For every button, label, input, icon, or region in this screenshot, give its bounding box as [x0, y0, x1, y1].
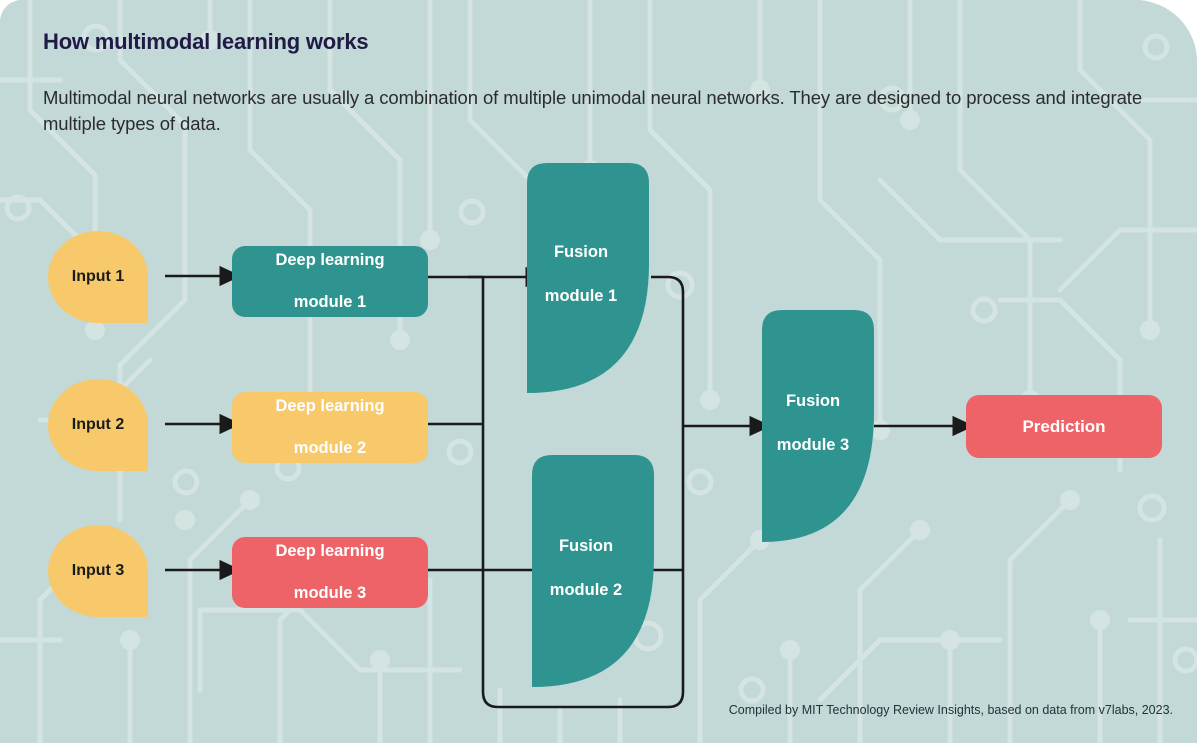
fusion2-line1: Fusion — [532, 535, 640, 557]
fusion-module-2-label: Fusion module 2 — [532, 535, 640, 601]
dl3-line2: module 3 — [275, 583, 384, 604]
prediction-label: Prediction — [1022, 417, 1105, 437]
prediction-node[interactable]: Prediction — [966, 395, 1162, 458]
dl3-line1: Deep learning — [275, 541, 384, 562]
fusion1-line2: module 1 — [527, 285, 635, 307]
page-subtitle: Multimodal neural networks are usually a… — [43, 85, 1178, 137]
input-node-1[interactable]: Input 1 — [48, 231, 148, 323]
input-node-3[interactable]: Input 3 — [48, 525, 148, 617]
input-node-1-label: Input 1 — [72, 268, 124, 286]
fusion-module-2[interactable]: Fusion module 2 — [532, 455, 654, 687]
fusion3-line2: module 3 — [762, 434, 864, 456]
input-node-2[interactable]: Input 2 — [48, 379, 148, 471]
input-node-2-label: Input 2 — [72, 416, 124, 434]
fusion-module-3[interactable]: Fusion module 3 — [762, 310, 874, 542]
deep-learning-module-3-label: Deep learning module 3 — [275, 541, 384, 604]
fusion3-line1: Fusion — [762, 390, 864, 412]
page-title: How multimodal learning works — [43, 29, 368, 55]
input-node-3-label: Input 3 — [72, 562, 124, 580]
dl1-line2: module 1 — [275, 292, 384, 313]
fusion-module-3-label: Fusion module 3 — [762, 390, 864, 456]
fusion1-line1: Fusion — [527, 241, 635, 263]
fusion2-line2: module 2 — [532, 579, 640, 601]
deep-learning-module-2[interactable]: Deep learning module 2 — [232, 392, 428, 463]
source-attribution: Compiled by MIT Technology Review Insigh… — [729, 703, 1173, 717]
fusion-module-1-label: Fusion module 1 — [527, 241, 635, 307]
deep-learning-module-2-label: Deep learning module 2 — [275, 396, 384, 459]
dl2-line2: module 2 — [275, 438, 384, 459]
dl1-line1: Deep learning — [275, 250, 384, 271]
deep-learning-module-1-label: Deep learning module 1 — [275, 250, 384, 313]
deep-learning-module-3[interactable]: Deep learning module 3 — [232, 537, 428, 608]
wire-fusion1-to-right-bus — [651, 277, 683, 692]
bottom-loop — [483, 692, 683, 707]
fusion-module-1[interactable]: Fusion module 1 — [527, 163, 649, 393]
infographic-card: How multimodal learning works Multimodal… — [0, 0, 1197, 743]
deep-learning-module-1[interactable]: Deep learning module 1 — [232, 246, 428, 317]
dl2-line1: Deep learning — [275, 396, 384, 417]
